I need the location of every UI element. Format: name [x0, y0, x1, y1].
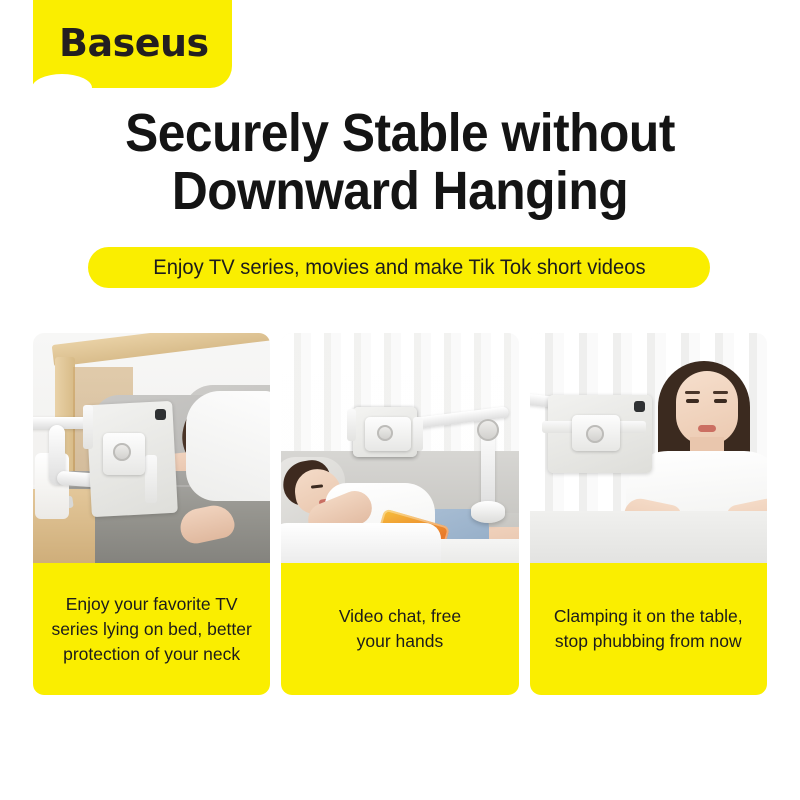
- subtitle-text: Enjoy TV series, movies and make Tik Tok…: [153, 256, 645, 280]
- card-caption-sofa: Video chat, free your hands: [281, 563, 518, 695]
- photo-bed-scene: [33, 333, 270, 563]
- feature-card-table: Clamping it on the table, stop phubbing …: [530, 333, 767, 695]
- caption-text: Enjoy your favorite TV series lying on b…: [51, 592, 251, 667]
- caption-text: Clamping it on the table, stop phubbing …: [554, 604, 743, 654]
- card-caption-table: Clamping it on the table, stop phubbing …: [530, 563, 767, 695]
- brand-logo-baseus: Baseus: [59, 22, 209, 64]
- photo-sofa-scene: [281, 333, 518, 563]
- desk-clamp-base: [471, 501, 505, 523]
- photo-table-scene: [530, 333, 767, 563]
- headline-line-1: Securely Stable without: [32, 104, 768, 162]
- headline-line-2: Downward Hanging: [32, 162, 768, 220]
- page-title: Securely Stable without Downward Hanging: [32, 104, 768, 220]
- brand-banner: Baseus: [33, 0, 232, 88]
- feature-card-sofa: Video chat, free your hands: [281, 333, 518, 695]
- subtitle-banner: Enjoy TV series, movies and make Tik Tok…: [88, 247, 710, 288]
- card-caption-bed: Enjoy your favorite TV series lying on b…: [33, 563, 270, 695]
- feature-card-bed: Enjoy your favorite TV series lying on b…: [33, 333, 270, 695]
- feature-card-row: Enjoy your favorite TV series lying on b…: [33, 333, 767, 695]
- product-marketing-page: Baseus Securely Stable without Downward …: [0, 0, 800, 800]
- caption-text: Video chat, free your hands: [339, 604, 461, 654]
